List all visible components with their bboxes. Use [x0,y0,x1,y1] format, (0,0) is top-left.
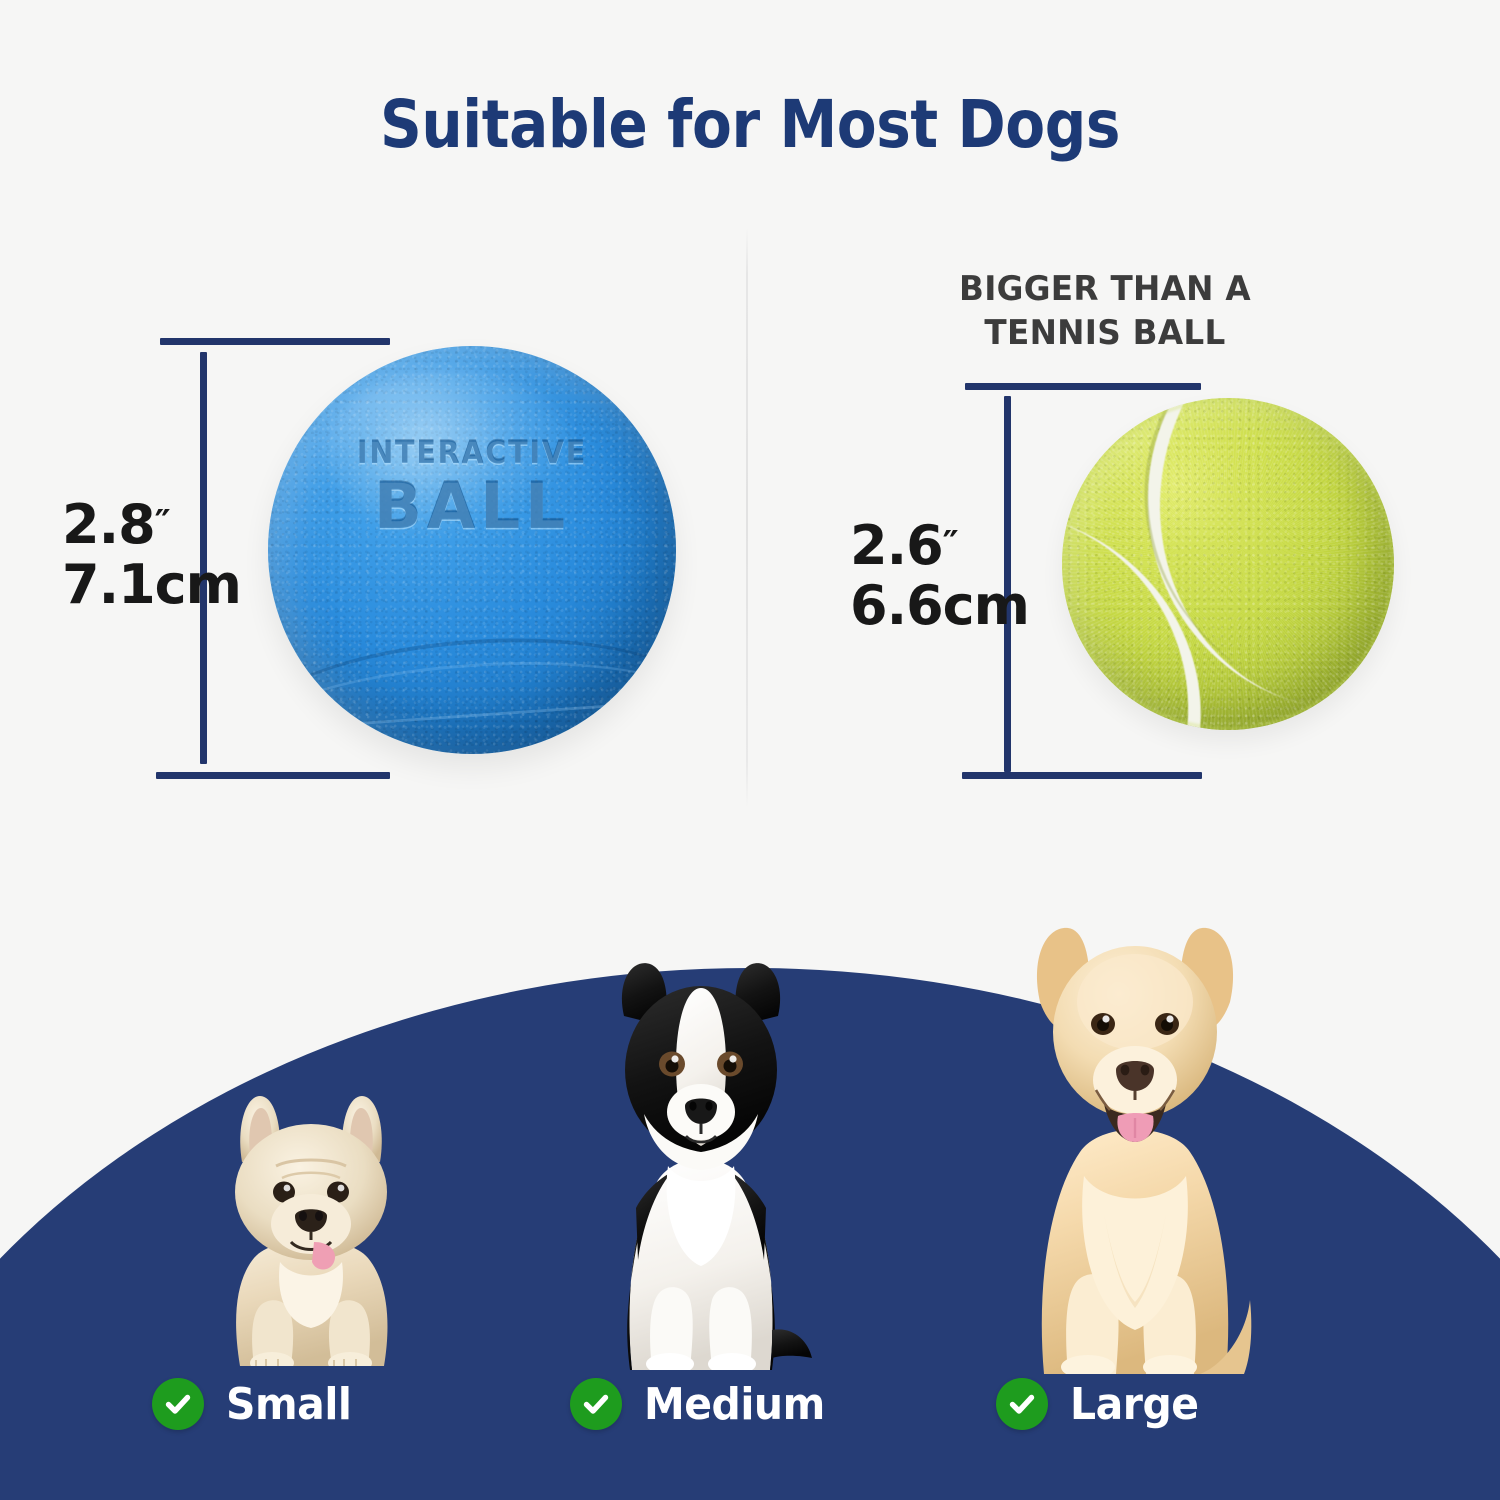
dimension-label-right: 2.6″ 6.6cm [850,516,1029,637]
interactive-ball-image: INTERACTIVE BALL [268,346,676,754]
dog-image-large [1000,884,1270,1374]
panel-divider [746,228,748,808]
dimension-label-left: 2.8″ 7.1cm [62,495,241,616]
size-label-medium: Medium [644,1379,825,1430]
measure-bottom-rule-right [962,772,1202,779]
tennis-heading-line-1: BIGGER THAN A [927,268,1282,312]
dimension-metric-value-right: 6.6cm [850,574,1029,637]
tennis-ball-edge [1062,398,1394,730]
dimension-inches-value-right: 2.6 [850,514,943,577]
size-label-small: Small [226,1379,351,1430]
dimension-metric-left: 7.1cm [62,555,241,615]
ball-emboss-line-2: BALL [272,475,672,539]
size-row-medium: Medium [570,1378,838,1430]
inch-mark-right: ″ [943,524,959,565]
dog-image-medium [576,930,826,1370]
tennis-heading-line-2: TENNIS BALL [927,312,1282,356]
tennis-comparison-heading: BIGGER THAN A TENNIS BALL [920,268,1290,355]
dimension-metric-right: 6.6cm [850,576,1029,636]
ball-emboss-line-1: INTERACTIVE [284,438,659,469]
ball-embossed-text: INTERACTIVE BALL [268,438,676,539]
measure-top-rule-left [160,338,390,345]
infographic-canvas: Suitable for Most Dogs INTERACTIVE BALL … [0,0,1500,1500]
dimension-inches-right: 2.6″ [850,516,1029,576]
check-icon-large [996,1378,1048,1430]
size-row-large: Large [996,1378,1208,1430]
dog-image-small [196,1066,426,1366]
check-icon-small [152,1378,204,1430]
dimension-metric-value-left: 7.1cm [62,553,241,616]
measure-bottom-rule-left [156,772,390,779]
size-label-large: Large [1070,1379,1199,1430]
tennis-ball-image [1062,398,1394,730]
size-row-small: Small [152,1378,361,1430]
dimension-inches-value-left: 2.8 [62,493,155,556]
page-title: Suitable for Most Dogs [90,86,1410,163]
check-icon-medium [570,1378,622,1430]
measure-top-rule-right [965,383,1201,390]
inch-mark-left: ″ [155,503,171,544]
dimension-inches-left: 2.8″ [62,495,241,555]
